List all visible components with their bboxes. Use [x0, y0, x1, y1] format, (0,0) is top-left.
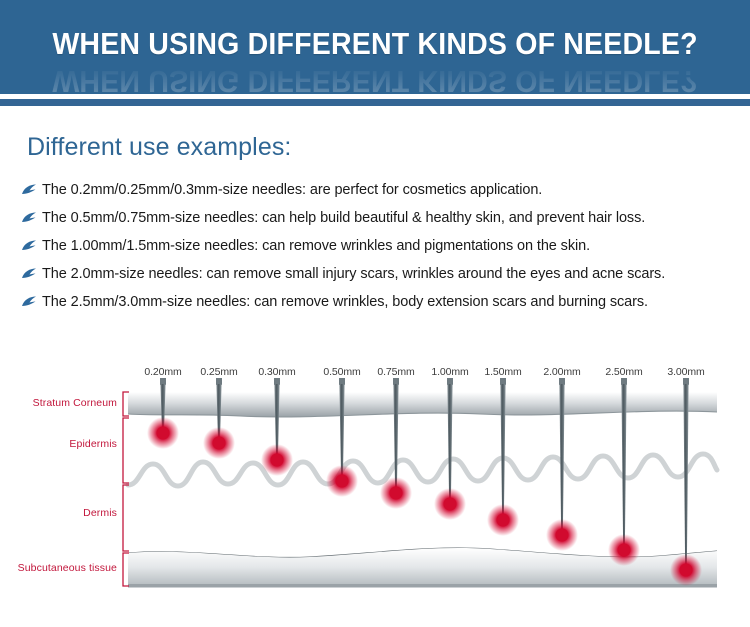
needle-size-label: 0.50mm	[323, 366, 360, 378]
list-item: The 0.5mm/0.75mm-size needles: can help …	[20, 204, 740, 232]
needle-size-label: 0.30mm	[258, 366, 295, 378]
needle-head	[393, 378, 399, 385]
list-item: The 2.0mm-size needles: can remove small…	[20, 260, 740, 288]
skin-layer-label: Stratum Corneum	[33, 397, 117, 409]
needle-shaft	[683, 384, 688, 573]
diagram-base-line	[128, 584, 717, 588]
list-item-text: The 2.5mm/3.0mm-size needles: can remove…	[42, 294, 648, 310]
skin-layer-label: Dermis	[83, 507, 117, 519]
skin-penetration-diagram: 0.20mm0.25mm0.30mm0.50mm0.75mm1.00mm1.50…	[0, 350, 750, 600]
needle-tip-core	[390, 487, 403, 500]
header-banner: WHEN USING DIFFERENT KINDS OF NEEDLE? WH…	[0, 0, 750, 94]
needle-head	[500, 378, 506, 385]
needle-tip-core	[157, 427, 170, 440]
list-item-text: The 1.00mm/1.5mm-size needles: can remov…	[42, 238, 590, 254]
needle-tip-core	[213, 437, 226, 450]
needle-head	[621, 378, 627, 385]
needle-tip-core	[556, 529, 569, 542]
needle-head	[274, 378, 280, 385]
needle-tip-core	[618, 544, 631, 557]
leaf-bullet-icon	[20, 211, 42, 225]
skin-layer-label: Subcutaneous tissue	[18, 562, 117, 574]
list-item-text: The 0.5mm/0.75mm-size needles: can help …	[42, 210, 645, 226]
needle-size-label: 0.20mm	[144, 366, 181, 378]
layer-bracket	[123, 418, 129, 483]
needle-size-label: 3.00mm	[667, 366, 704, 378]
needle-head	[559, 378, 565, 385]
needle-shaft	[621, 384, 626, 553]
needle-0.25mm	[203, 378, 235, 459]
needle-head	[339, 378, 345, 385]
list-item: The 2.5mm/3.0mm-size needles: can remove…	[20, 288, 740, 316]
page-title: WHEN USING DIFFERENT KINDS OF NEEDLE?	[30, 26, 720, 62]
list-item: The 1.00mm/1.5mm-size needles: can remov…	[20, 232, 740, 260]
needle-size-label: 2.00mm	[543, 366, 580, 378]
needle-tip-core	[497, 514, 510, 527]
epidermis-dermis-boundary	[128, 454, 717, 486]
needle-tip-core	[336, 475, 349, 488]
header-accent-bar	[0, 99, 750, 106]
needle-size-label: 0.25mm	[200, 366, 237, 378]
needle-tip-core	[680, 564, 693, 577]
needle-tip-core	[271, 454, 284, 467]
needle-size-label: 2.50mm	[605, 366, 642, 378]
needle-tip-core	[444, 498, 457, 511]
list-item: The 0.2mm/0.25mm/0.3mm-size needles: are…	[20, 176, 740, 204]
needle-shaft	[500, 384, 505, 523]
page-title-reflection: WHEN USING DIFFERENT KINDS OF NEEDLE?	[30, 63, 720, 94]
needle-head	[683, 378, 689, 385]
leaf-bullet-icon	[20, 295, 42, 309]
list-item-text: The 0.2mm/0.25mm/0.3mm-size needles: are…	[42, 182, 542, 198]
needle-head	[160, 378, 166, 385]
needle-size-label: 0.75mm	[377, 366, 414, 378]
needle-size-label: 1.00mm	[431, 366, 468, 378]
skin-layer-label: Epidermis	[69, 438, 117, 450]
needle-head	[216, 378, 222, 385]
leaf-bullet-icon	[20, 267, 42, 281]
layer-bracket	[123, 485, 129, 551]
page-root: WHEN USING DIFFERENT KINDS OF NEEDLE? WH…	[0, 0, 750, 627]
leaf-bullet-icon	[20, 239, 42, 253]
needle-size-label: 1.50mm	[484, 366, 521, 378]
leaf-bullet-icon	[20, 183, 42, 197]
section-heading: Different use examples:	[27, 133, 291, 162]
needle-head	[447, 378, 453, 385]
list-item-text: The 2.0mm-size needles: can remove small…	[42, 266, 665, 282]
use-examples-list: The 0.2mm/0.25mm/0.3mm-size needles: are…	[20, 176, 740, 316]
